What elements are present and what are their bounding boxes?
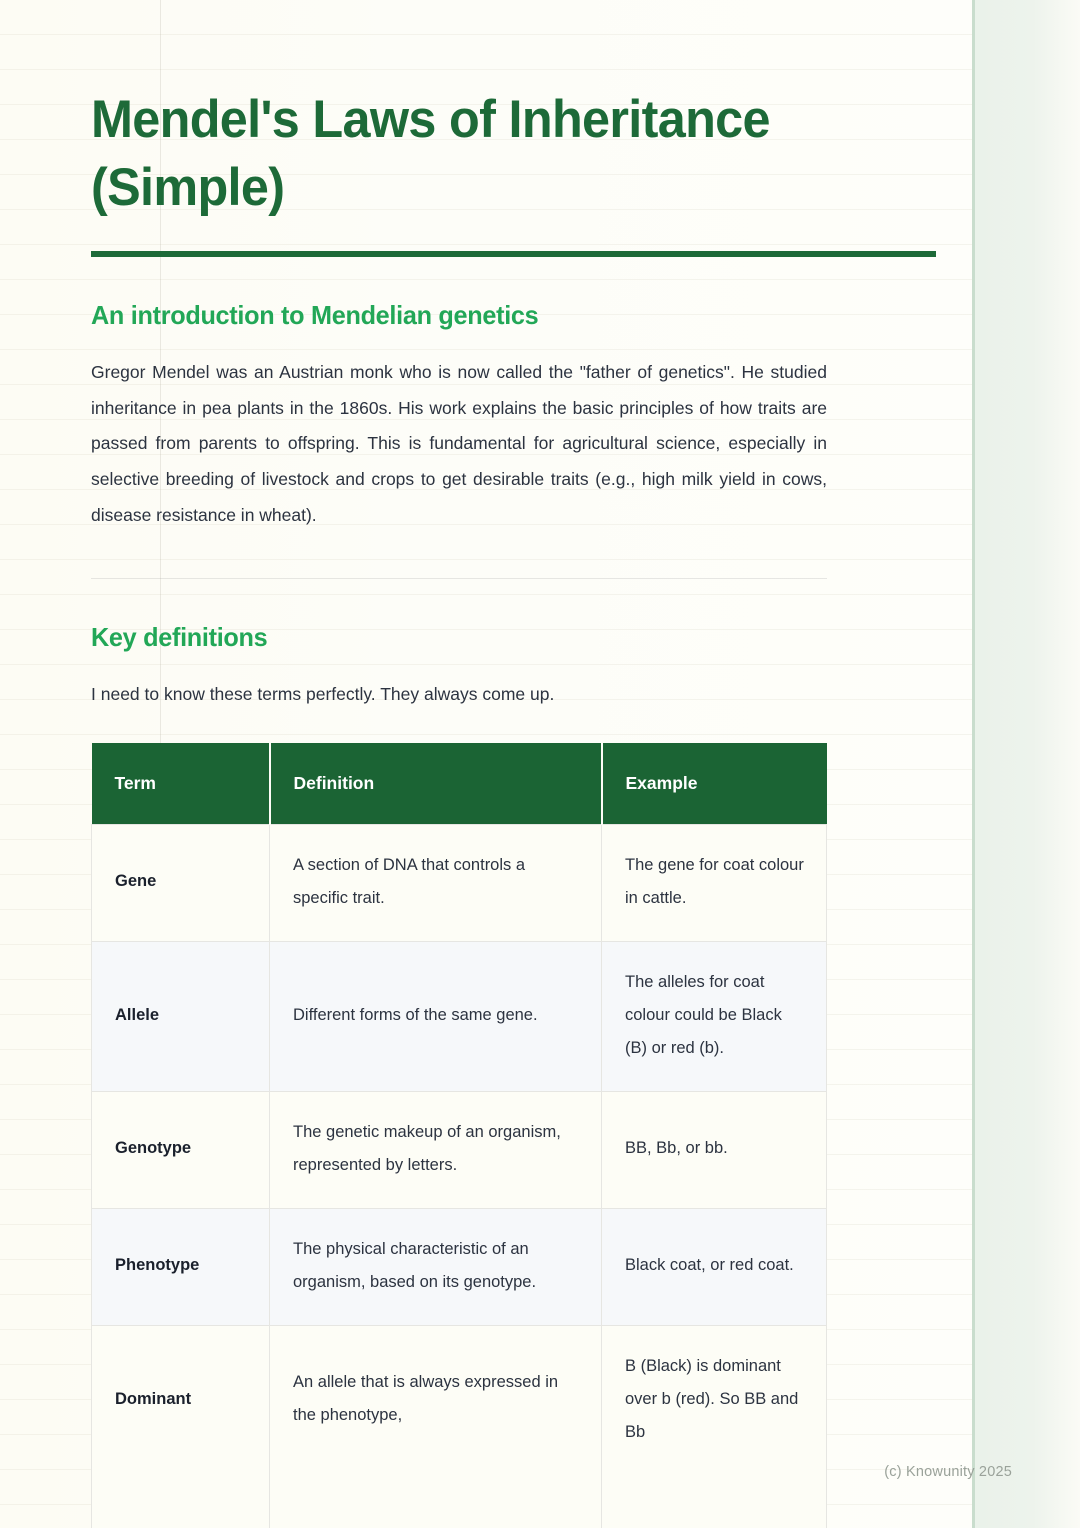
table-cell-example: B (Black) is dominant over b (red). So B… xyxy=(602,1325,827,1528)
table-cell-term: Phenotype xyxy=(92,1208,270,1325)
section-paragraph-introduction: Gregor Mendel was an Austrian monk who i… xyxy=(91,355,827,534)
page-title: Mendel's Laws of Inheritance (Simple) xyxy=(91,0,790,222)
table-header-example: Example xyxy=(602,743,827,825)
section-heading-key-definitions: Key definitions xyxy=(91,579,805,653)
table-cell-term: Allele xyxy=(92,941,270,1091)
document-content: Mendel's Laws of Inheritance (Simple) An… xyxy=(91,0,827,1528)
table-row: Gene A section of DNA that controls a sp… xyxy=(92,824,827,941)
table-cell-definition: A section of DNA that controls a specifi… xyxy=(270,824,602,941)
table-cell-term: Genotype xyxy=(92,1091,270,1208)
table-header-definition: Definition xyxy=(270,743,602,825)
table-cell-example: The alleles for coat colour could be Bla… xyxy=(602,941,827,1091)
table-cell-definition: The physical characteristic of an organi… xyxy=(270,1208,602,1325)
table-row: Dominant An allele that is always expres… xyxy=(92,1325,827,1528)
table-cell-example: The gene for coat colour in cattle. xyxy=(602,824,827,941)
table-cell-definition: An allele that is always expressed in th… xyxy=(270,1325,602,1528)
table-header-term: Term xyxy=(92,743,270,825)
table-header-row: Term Definition Example xyxy=(92,743,827,825)
section-introduction: An introduction to Mendelian genetics Gr… xyxy=(91,257,827,534)
copyright-watermark: (c) Knowunity 2025 xyxy=(884,1464,1012,1480)
table-row: Phenotype The physical characteristic of… xyxy=(92,1208,827,1325)
table-cell-term: Dominant xyxy=(92,1325,270,1528)
section-paragraph-key-definitions: I need to know these terms perfectly. Th… xyxy=(91,677,827,713)
table-cell-definition: Different forms of the same gene. xyxy=(270,941,602,1091)
page-side-strip xyxy=(972,0,1080,1528)
table-cell-term: Gene xyxy=(92,824,270,941)
table-cell-definition: The genetic makeup of an organism, repre… xyxy=(270,1091,602,1208)
table-row: Allele Different forms of the same gene.… xyxy=(92,941,827,1091)
key-definitions-table: Term Definition Example Gene A section o… xyxy=(91,743,827,1528)
section-key-definitions: Key definitions I need to know these ter… xyxy=(91,579,827,1528)
table-cell-example: BB, Bb, or bb. xyxy=(602,1091,827,1208)
table-row: Genotype The genetic makeup of an organi… xyxy=(92,1091,827,1208)
section-heading-introduction: An introduction to Mendelian genetics xyxy=(91,257,805,331)
document-page: Mendel's Laws of Inheritance (Simple) An… xyxy=(0,0,1080,1528)
table-cell-example: Black coat, or red coat. xyxy=(602,1208,827,1325)
table-body: Gene A section of DNA that controls a sp… xyxy=(92,824,827,1528)
